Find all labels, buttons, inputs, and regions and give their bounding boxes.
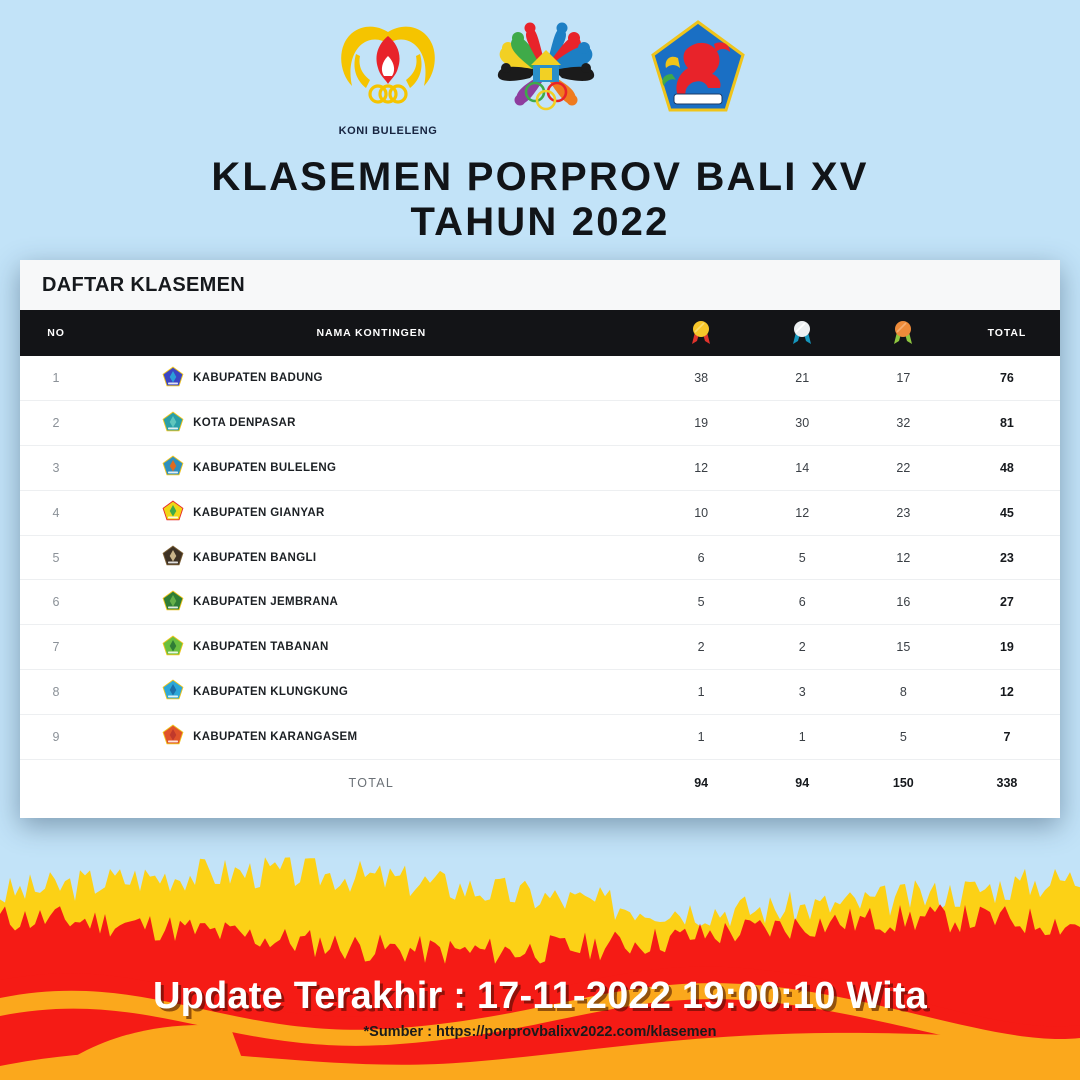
porprov-logo-graphic <box>492 18 600 118</box>
standings-table: NO NAMA KONTINGEN <box>20 310 1060 807</box>
cell-contingent: KABUPATEN BADUNG <box>92 356 651 401</box>
cell-rank: 7 <box>20 625 92 670</box>
cell-bronze: 8 <box>853 670 954 715</box>
cell-gold: 19 <box>651 401 752 446</box>
cell-silver: 14 <box>752 446 853 491</box>
total-gold: 94 <box>651 759 752 807</box>
cell-total: 76 <box>954 356 1060 401</box>
cell-rank: 5 <box>20 535 92 580</box>
cell-silver: 21 <box>752 356 853 401</box>
table-row[interactable]: 5KABUPATEN BANGLI651223 <box>20 535 1060 580</box>
contingent-name: KABUPATEN KARANGASEM <box>193 731 357 743</box>
cell-contingent: KABUPATEN KLUNGKUNG <box>92 670 651 715</box>
cell-total: 45 <box>954 490 1060 535</box>
table-body: 1KABUPATEN BADUNG382117762KOTA DENPASAR1… <box>20 356 1060 807</box>
karangasem-crest <box>162 724 184 749</box>
cell-total: 19 <box>954 625 1060 670</box>
page-title-line2: TAHUN 2022 <box>0 200 1080 245</box>
page-title: KLASEMEN PORPROV BALI XV TAHUN 2022 <box>0 155 1080 245</box>
cell-rank: 4 <box>20 490 92 535</box>
gianyar-crest <box>162 500 184 525</box>
klungkung-crest <box>162 679 184 704</box>
contingent-name: KABUPATEN KLUNGKUNG <box>193 686 348 698</box>
cell-bronze: 22 <box>853 446 954 491</box>
cell-gold: 10 <box>651 490 752 535</box>
cell-gold: 1 <box>651 714 752 759</box>
cell-total: 48 <box>954 446 1060 491</box>
cell-total: 81 <box>954 401 1060 446</box>
cell-rank: 3 <box>20 446 92 491</box>
total-bronze: 150 <box>853 759 954 807</box>
cell-rank: 2 <box>20 401 92 446</box>
cell-silver: 12 <box>752 490 853 535</box>
cell-silver: 2 <box>752 625 853 670</box>
cell-gold: 2 <box>651 625 752 670</box>
total-silver: 94 <box>752 759 853 807</box>
contingent-name: KABUPATEN BADUNG <box>193 372 323 384</box>
cell-rank: 6 <box>20 580 92 625</box>
cell-bronze: 16 <box>853 580 954 625</box>
table-row[interactable]: 1KABUPATEN BADUNG38211776 <box>20 356 1060 401</box>
cell-total: 7 <box>954 714 1060 759</box>
column-header-no[interactable]: NO <box>20 310 92 356</box>
column-header-bronze[interactable] <box>853 310 954 356</box>
cell-silver: 3 <box>752 670 853 715</box>
page-title-line1: KLASEMEN PORPROV BALI XV <box>0 155 1080 200</box>
cell-gold: 1 <box>651 670 752 715</box>
buleleng-crest <box>162 455 184 480</box>
contingent-name: KABUPATEN BULELENG <box>193 462 336 474</box>
column-header-silver[interactable] <box>752 310 853 356</box>
bronze-medal-icon <box>892 320 914 346</box>
badung-crest <box>162 366 184 391</box>
poster-canvas: KONI BULELENG <box>0 0 1080 1080</box>
cell-contingent: KABUPATEN JEMBRANA <box>92 580 651 625</box>
cell-total: 12 <box>954 670 1060 715</box>
cell-gold: 6 <box>651 535 752 580</box>
table-row[interactable]: 3KABUPATEN BULELENG12142248 <box>20 446 1060 491</box>
porprov-bali-xv-logo <box>492 18 600 123</box>
cell-gold: 12 <box>651 446 752 491</box>
table-row[interactable]: 8KABUPATEN KLUNGKUNG13812 <box>20 670 1060 715</box>
silver-medal-icon <box>791 320 813 346</box>
contingent-name: KABUPATEN JEMBRANA <box>193 596 338 608</box>
card-title: DAFTAR KLASEMEN <box>42 274 245 297</box>
cell-bronze: 23 <box>853 490 954 535</box>
total-row-spacer <box>20 759 92 807</box>
table-header: NO NAMA KONTINGEN <box>20 310 1060 356</box>
cell-contingent: KABUPATEN BANGLI <box>92 535 651 580</box>
bangli-crest <box>162 545 184 570</box>
cell-contingent: KOTA DENPASAR <box>92 401 651 446</box>
cell-silver: 1 <box>752 714 853 759</box>
update-timestamp: Update Terakhir : 17-11-2022 19:00:10 Wi… <box>0 975 1080 1018</box>
cell-bronze: 5 <box>853 714 954 759</box>
table-row[interactable]: 7KABUPATEN TABANAN221519 <box>20 625 1060 670</box>
table-row[interactable]: 4KABUPATEN GIANYAR10122345 <box>20 490 1060 535</box>
standings-card: DAFTAR KLASEMEN NO NAMA KONTINGEN <box>20 260 1060 818</box>
cell-gold: 5 <box>651 580 752 625</box>
jembrana-crest <box>162 590 184 615</box>
footer-decoration <box>0 830 1080 1080</box>
contingent-name: KABUPATEN GIANYAR <box>193 507 325 519</box>
denpasar-crest <box>162 411 184 436</box>
cell-bronze: 12 <box>853 535 954 580</box>
table-row[interactable]: 9KABUPATEN KARANGASEM1157 <box>20 714 1060 759</box>
cell-silver: 5 <box>752 535 853 580</box>
cell-contingent: KABUPATEN GIANYAR <box>92 490 651 535</box>
footer-waveform <box>0 830 1080 1080</box>
table-row[interactable]: 2KOTA DENPASAR19303281 <box>20 401 1060 446</box>
cell-gold: 38 <box>651 356 752 401</box>
buleleng-regency-crest <box>648 18 748 123</box>
cell-silver: 6 <box>752 580 853 625</box>
table-header-row: NO NAMA KONTINGEN <box>20 310 1060 356</box>
cell-contingent: KABUPATEN TABANAN <box>92 625 651 670</box>
cell-bronze: 32 <box>853 401 954 446</box>
cell-bronze: 15 <box>853 625 954 670</box>
cell-total: 23 <box>954 535 1060 580</box>
contingent-name: KABUPATEN TABANAN <box>193 641 329 653</box>
column-header-name[interactable]: NAMA KONTINGEN <box>92 310 651 356</box>
logo-strip: KONI BULELENG <box>0 18 1080 138</box>
koni-logo-caption: KONI BULELENG <box>332 125 444 137</box>
column-header-total[interactable]: TOTAL <box>954 310 1060 356</box>
total-grand: 338 <box>954 759 1060 807</box>
cell-contingent: KABUPATEN BULELENG <box>92 446 651 491</box>
cell-total: 27 <box>954 580 1060 625</box>
gold-medal-icon <box>690 320 712 346</box>
buleleng-crest-graphic <box>648 18 748 118</box>
table-total-row: TOTAL9494150338 <box>20 759 1060 807</box>
koni-logo-graphic <box>332 18 444 118</box>
cell-rank: 8 <box>20 670 92 715</box>
cell-silver: 30 <box>752 401 853 446</box>
contingent-name: KOTA DENPASAR <box>193 417 296 429</box>
cell-bronze: 17 <box>853 356 954 401</box>
tabanan-crest <box>162 635 184 660</box>
cell-rank: 9 <box>20 714 92 759</box>
cell-rank: 1 <box>20 356 92 401</box>
source-url-note: *Sumber : https://porprovbalixv2022.com/… <box>0 1024 1080 1040</box>
column-header-gold[interactable] <box>651 310 752 356</box>
contingent-name: KABUPATEN BANGLI <box>193 552 316 564</box>
card-header: DAFTAR KLASEMEN <box>20 260 1060 310</box>
cell-contingent: KABUPATEN KARANGASEM <box>92 714 651 759</box>
koni-buleleng-logo: KONI BULELENG <box>332 18 444 137</box>
table-row[interactable]: 6KABUPATEN JEMBRANA561627 <box>20 580 1060 625</box>
total-row-label: TOTAL <box>92 759 651 807</box>
